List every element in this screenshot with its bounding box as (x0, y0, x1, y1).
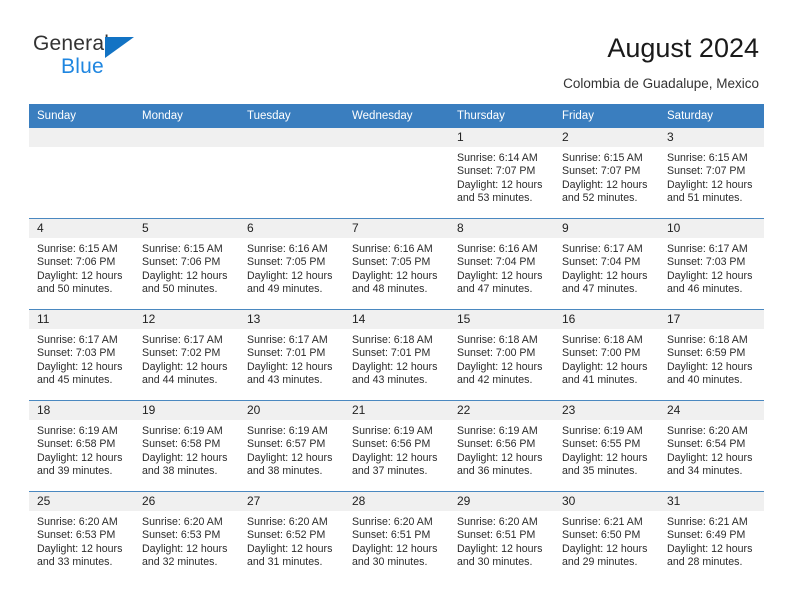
weekday-header-tuesday: Tuesday (239, 104, 344, 128)
calendar-day-cell[interactable]: 20Sunrise: 6:19 AMSunset: 6:57 PMDayligh… (239, 401, 344, 492)
sunset-text: Sunset: 6:59 PM (667, 347, 758, 360)
daylight-text: Daylight: 12 hours and 41 minutes. (562, 361, 653, 388)
sunrise-text: Sunrise: 6:18 AM (562, 334, 653, 347)
page-header: General Blue August 2024 Colombia de Gua… (0, 0, 792, 100)
day-details: Sunrise: 6:19 AMSunset: 6:56 PMDaylight:… (449, 420, 554, 479)
sunrise-text: Sunrise: 6:20 AM (457, 516, 548, 529)
day-details: Sunrise: 6:19 AMSunset: 6:58 PMDaylight:… (29, 420, 134, 479)
day-number: 17 (659, 310, 764, 329)
calendar-day-cell[interactable]: 23Sunrise: 6:19 AMSunset: 6:55 PMDayligh… (554, 401, 659, 492)
day-number: 3 (659, 128, 764, 147)
day-details: Sunrise: 6:17 AMSunset: 7:01 PMDaylight:… (239, 329, 344, 388)
day-number (134, 128, 239, 147)
sunrise-text: Sunrise: 6:16 AM (247, 243, 338, 256)
general-blue-logo[interactable]: General Blue (33, 32, 213, 84)
sunrise-text: Sunrise: 6:17 AM (247, 334, 338, 347)
day-details: Sunrise: 6:17 AMSunset: 7:03 PMDaylight:… (29, 329, 134, 388)
day-number: 1 (449, 128, 554, 147)
day-details: Sunrise: 6:18 AMSunset: 7:00 PMDaylight:… (449, 329, 554, 388)
day-number: 23 (554, 401, 659, 420)
weekday-header-thursday: Thursday (449, 104, 554, 128)
sunrise-text: Sunrise: 6:20 AM (352, 516, 443, 529)
calendar-day-cell[interactable]: 1Sunrise: 6:14 AMSunset: 7:07 PMDaylight… (449, 128, 554, 219)
weekday-header-sunday: Sunday (29, 104, 134, 128)
day-details: Sunrise: 6:17 AMSunset: 7:04 PMDaylight:… (554, 238, 659, 297)
daylight-text: Daylight: 12 hours and 43 minutes. (247, 361, 338, 388)
daylight-text: Daylight: 12 hours and 28 minutes. (667, 543, 758, 570)
calendar-day-cell[interactable]: 14Sunrise: 6:18 AMSunset: 7:01 PMDayligh… (344, 310, 449, 401)
day-number: 26 (134, 492, 239, 511)
sunrise-text: Sunrise: 6:16 AM (457, 243, 548, 256)
daylight-text: Daylight: 12 hours and 39 minutes. (37, 452, 128, 479)
daylight-text: Daylight: 12 hours and 52 minutes. (562, 179, 653, 206)
sunset-text: Sunset: 6:58 PM (142, 438, 233, 451)
sunset-text: Sunset: 7:04 PM (457, 256, 548, 269)
sunrise-text: Sunrise: 6:21 AM (667, 516, 758, 529)
calendar-day-cell[interactable]: 28Sunrise: 6:20 AMSunset: 6:51 PMDayligh… (344, 492, 449, 583)
day-details: Sunrise: 6:21 AMSunset: 6:49 PMDaylight:… (659, 511, 764, 570)
calendar-day-cell[interactable]: 7Sunrise: 6:16 AMSunset: 7:05 PMDaylight… (344, 219, 449, 310)
daylight-text: Daylight: 12 hours and 36 minutes. (457, 452, 548, 479)
sunrise-text: Sunrise: 6:20 AM (667, 425, 758, 438)
sunset-text: Sunset: 7:06 PM (37, 256, 128, 269)
day-details: Sunrise: 6:18 AMSunset: 7:00 PMDaylight:… (554, 329, 659, 388)
day-details: Sunrise: 6:17 AMSunset: 7:02 PMDaylight:… (134, 329, 239, 388)
calendar-day-cell[interactable]: 19Sunrise: 6:19 AMSunset: 6:58 PMDayligh… (134, 401, 239, 492)
day-number: 28 (344, 492, 449, 511)
sunset-text: Sunset: 7:04 PM (562, 256, 653, 269)
day-number: 8 (449, 219, 554, 238)
day-number: 19 (134, 401, 239, 420)
sunrise-text: Sunrise: 6:15 AM (562, 152, 653, 165)
weekday-header-saturday: Saturday (659, 104, 764, 128)
day-number: 7 (344, 219, 449, 238)
daylight-text: Daylight: 12 hours and 32 minutes. (142, 543, 233, 570)
sunset-text: Sunset: 6:51 PM (352, 529, 443, 542)
daylight-text: Daylight: 12 hours and 38 minutes. (247, 452, 338, 479)
sunset-text: Sunset: 7:00 PM (457, 347, 548, 360)
day-number: 27 (239, 492, 344, 511)
daylight-text: Daylight: 12 hours and 45 minutes. (37, 361, 128, 388)
daylight-text: Daylight: 12 hours and 33 minutes. (37, 543, 128, 570)
calendar-day-cell[interactable]: 31Sunrise: 6:21 AMSunset: 6:49 PMDayligh… (659, 492, 764, 583)
sunset-text: Sunset: 7:07 PM (667, 165, 758, 178)
day-number: 30 (554, 492, 659, 511)
calendar-day-cell[interactable]: 21Sunrise: 6:19 AMSunset: 6:56 PMDayligh… (344, 401, 449, 492)
daylight-text: Daylight: 12 hours and 50 minutes. (142, 270, 233, 297)
day-number: 21 (344, 401, 449, 420)
day-details: Sunrise: 6:19 AMSunset: 6:56 PMDaylight:… (344, 420, 449, 479)
calendar-day-cell-empty (239, 128, 344, 219)
sunset-text: Sunset: 6:49 PM (667, 529, 758, 542)
daylight-text: Daylight: 12 hours and 46 minutes. (667, 270, 758, 297)
day-number: 24 (659, 401, 764, 420)
calendar-day-cell[interactable]: 22Sunrise: 6:19 AMSunset: 6:56 PMDayligh… (449, 401, 554, 492)
sunset-text: Sunset: 7:01 PM (352, 347, 443, 360)
sunset-text: Sunset: 7:00 PM (562, 347, 653, 360)
day-details: Sunrise: 6:15 AMSunset: 7:07 PMDaylight:… (554, 147, 659, 206)
weekday-header-monday: Monday (134, 104, 239, 128)
sunrise-text: Sunrise: 6:15 AM (37, 243, 128, 256)
daylight-text: Daylight: 12 hours and 44 minutes. (142, 361, 233, 388)
day-number: 9 (554, 219, 659, 238)
calendar-day-cell[interactable]: 11Sunrise: 6:17 AMSunset: 7:03 PMDayligh… (29, 310, 134, 401)
daylight-text: Daylight: 12 hours and 29 minutes. (562, 543, 653, 570)
day-number: 12 (134, 310, 239, 329)
daylight-text: Daylight: 12 hours and 31 minutes. (247, 543, 338, 570)
calendar-day-cell[interactable]: 26Sunrise: 6:20 AMSunset: 6:53 PMDayligh… (134, 492, 239, 583)
calendar-day-cell[interactable]: 30Sunrise: 6:21 AMSunset: 6:50 PMDayligh… (554, 492, 659, 583)
weekday-header-wednesday: Wednesday (344, 104, 449, 128)
calendar-week-row: 18Sunrise: 6:19 AMSunset: 6:58 PMDayligh… (29, 401, 764, 492)
day-number (29, 128, 134, 147)
sunrise-text: Sunrise: 6:20 AM (142, 516, 233, 529)
day-details: Sunrise: 6:20 AMSunset: 6:51 PMDaylight:… (344, 511, 449, 570)
day-details: Sunrise: 6:18 AMSunset: 6:59 PMDaylight:… (659, 329, 764, 388)
day-number (239, 128, 344, 147)
sunset-text: Sunset: 7:03 PM (667, 256, 758, 269)
calendar-day-cell[interactable]: 10Sunrise: 6:17 AMSunset: 7:03 PMDayligh… (659, 219, 764, 310)
calendar-day-cell[interactable]: 4Sunrise: 6:15 AMSunset: 7:06 PMDaylight… (29, 219, 134, 310)
calendar-day-cell[interactable]: 16Sunrise: 6:18 AMSunset: 7:00 PMDayligh… (554, 310, 659, 401)
day-details: Sunrise: 6:18 AMSunset: 7:01 PMDaylight:… (344, 329, 449, 388)
calendar-day-cell[interactable]: 27Sunrise: 6:20 AMSunset: 6:52 PMDayligh… (239, 492, 344, 583)
sunset-text: Sunset: 6:51 PM (457, 529, 548, 542)
sunrise-text: Sunrise: 6:18 AM (352, 334, 443, 347)
calendar-day-cell[interactable]: 12Sunrise: 6:17 AMSunset: 7:02 PMDayligh… (134, 310, 239, 401)
day-number: 20 (239, 401, 344, 420)
day-number: 2 (554, 128, 659, 147)
day-number: 11 (29, 310, 134, 329)
day-number: 29 (449, 492, 554, 511)
sunset-text: Sunset: 6:56 PM (457, 438, 548, 451)
sunset-text: Sunset: 6:53 PM (37, 529, 128, 542)
calendar-body: 1Sunrise: 6:14 AMSunset: 7:07 PMDaylight… (29, 128, 764, 582)
logo-text-blue: Blue (61, 55, 104, 79)
daylight-text: Daylight: 12 hours and 48 minutes. (352, 270, 443, 297)
daylight-text: Daylight: 12 hours and 49 minutes. (247, 270, 338, 297)
sunset-text: Sunset: 7:06 PM (142, 256, 233, 269)
sunrise-text: Sunrise: 6:15 AM (142, 243, 233, 256)
sunrise-text: Sunrise: 6:14 AM (457, 152, 548, 165)
daylight-text: Daylight: 12 hours and 30 minutes. (352, 543, 443, 570)
day-details: Sunrise: 6:20 AMSunset: 6:53 PMDaylight:… (29, 511, 134, 570)
calendar-header-row: Sunday Monday Tuesday Wednesday Thursday… (29, 104, 764, 128)
day-number (344, 128, 449, 147)
day-details: Sunrise: 6:16 AMSunset: 7:05 PMDaylight:… (344, 238, 449, 297)
calendar-day-cell[interactable]: 5Sunrise: 6:15 AMSunset: 7:06 PMDaylight… (134, 219, 239, 310)
calendar-page: General Blue August 2024 Colombia de Gua… (0, 0, 792, 612)
sunset-text: Sunset: 6:55 PM (562, 438, 653, 451)
sunset-text: Sunset: 6:57 PM (247, 438, 338, 451)
day-details: Sunrise: 6:16 AMSunset: 7:04 PMDaylight:… (449, 238, 554, 297)
daylight-text: Daylight: 12 hours and 47 minutes. (457, 270, 548, 297)
daylight-text: Daylight: 12 hours and 38 minutes. (142, 452, 233, 479)
calendar-day-cell[interactable]: 9Sunrise: 6:17 AMSunset: 7:04 PMDaylight… (554, 219, 659, 310)
calendar-day-cell[interactable]: 29Sunrise: 6:20 AMSunset: 6:51 PMDayligh… (449, 492, 554, 583)
sunrise-text: Sunrise: 6:17 AM (667, 243, 758, 256)
sunset-text: Sunset: 6:54 PM (667, 438, 758, 451)
sunrise-text: Sunrise: 6:19 AM (352, 425, 443, 438)
logo-text-general: General (33, 32, 109, 56)
sunrise-text: Sunrise: 6:19 AM (562, 425, 653, 438)
sunrise-text: Sunrise: 6:21 AM (562, 516, 653, 529)
calendar-day-cell[interactable]: 2Sunrise: 6:15 AMSunset: 7:07 PMDaylight… (554, 128, 659, 219)
daylight-text: Daylight: 12 hours and 40 minutes. (667, 361, 758, 388)
weekday-header-friday: Friday (554, 104, 659, 128)
day-details: Sunrise: 6:19 AMSunset: 6:57 PMDaylight:… (239, 420, 344, 479)
day-details: Sunrise: 6:15 AMSunset: 7:06 PMDaylight:… (29, 238, 134, 297)
day-details: Sunrise: 6:20 AMSunset: 6:52 PMDaylight:… (239, 511, 344, 570)
daylight-text: Daylight: 12 hours and 53 minutes. (457, 179, 548, 206)
sunrise-text: Sunrise: 6:20 AM (247, 516, 338, 529)
day-number: 15 (449, 310, 554, 329)
page-title: August 2024 (607, 32, 759, 64)
day-details: Sunrise: 6:20 AMSunset: 6:51 PMDaylight:… (449, 511, 554, 570)
day-number: 10 (659, 219, 764, 238)
day-number: 4 (29, 219, 134, 238)
day-details: Sunrise: 6:20 AMSunset: 6:54 PMDaylight:… (659, 420, 764, 479)
sunset-text: Sunset: 6:53 PM (142, 529, 233, 542)
day-number: 31 (659, 492, 764, 511)
daylight-text: Daylight: 12 hours and 51 minutes. (667, 179, 758, 206)
day-number: 16 (554, 310, 659, 329)
calendar-day-cell[interactable]: 25Sunrise: 6:20 AMSunset: 6:53 PMDayligh… (29, 492, 134, 583)
sunset-text: Sunset: 6:56 PM (352, 438, 443, 451)
day-details: Sunrise: 6:15 AMSunset: 7:07 PMDaylight:… (659, 147, 764, 206)
sunrise-text: Sunrise: 6:18 AM (667, 334, 758, 347)
sunrise-text: Sunrise: 6:17 AM (562, 243, 653, 256)
sunset-text: Sunset: 7:02 PM (142, 347, 233, 360)
sunset-text: Sunset: 7:03 PM (37, 347, 128, 360)
sunrise-text: Sunrise: 6:18 AM (457, 334, 548, 347)
calendar-week-row: 4Sunrise: 6:15 AMSunset: 7:06 PMDaylight… (29, 219, 764, 310)
day-details: Sunrise: 6:19 AMSunset: 6:58 PMDaylight:… (134, 420, 239, 479)
sunset-text: Sunset: 7:05 PM (352, 256, 443, 269)
day-number: 13 (239, 310, 344, 329)
day-details: Sunrise: 6:19 AMSunset: 6:55 PMDaylight:… (554, 420, 659, 479)
calendar-day-cell[interactable]: 18Sunrise: 6:19 AMSunset: 6:58 PMDayligh… (29, 401, 134, 492)
sunrise-text: Sunrise: 6:19 AM (247, 425, 338, 438)
daylight-text: Daylight: 12 hours and 30 minutes. (457, 543, 548, 570)
daylight-text: Daylight: 12 hours and 42 minutes. (457, 361, 548, 388)
calendar-day-cell[interactable]: 17Sunrise: 6:18 AMSunset: 6:59 PMDayligh… (659, 310, 764, 401)
calendar-week-row: 25Sunrise: 6:20 AMSunset: 6:53 PMDayligh… (29, 492, 764, 583)
sunrise-text: Sunrise: 6:16 AM (352, 243, 443, 256)
sunrise-text: Sunrise: 6:17 AM (142, 334, 233, 347)
sunrise-text: Sunrise: 6:20 AM (37, 516, 128, 529)
sunrise-text: Sunrise: 6:19 AM (457, 425, 548, 438)
day-number: 22 (449, 401, 554, 420)
daylight-text: Daylight: 12 hours and 50 minutes. (37, 270, 128, 297)
day-details: Sunrise: 6:20 AMSunset: 6:53 PMDaylight:… (134, 511, 239, 570)
page-subtitle-location: Colombia de Guadalupe, Mexico (563, 76, 759, 92)
sunrise-text: Sunrise: 6:15 AM (667, 152, 758, 165)
calendar-day-cell[interactable]: 6Sunrise: 6:16 AMSunset: 7:05 PMDaylight… (239, 219, 344, 310)
sunrise-text: Sunrise: 6:17 AM (37, 334, 128, 347)
calendar-week-row: 1Sunrise: 6:14 AMSunset: 7:07 PMDaylight… (29, 128, 764, 219)
calendar-day-cell[interactable]: 15Sunrise: 6:18 AMSunset: 7:00 PMDayligh… (449, 310, 554, 401)
day-number: 25 (29, 492, 134, 511)
day-number: 5 (134, 219, 239, 238)
day-details: Sunrise: 6:21 AMSunset: 6:50 PMDaylight:… (554, 511, 659, 570)
sunrise-sunset-calendar-table: Sunday Monday Tuesday Wednesday Thursday… (29, 104, 764, 582)
day-details: Sunrise: 6:17 AMSunset: 7:03 PMDaylight:… (659, 238, 764, 297)
sunset-text: Sunset: 6:58 PM (37, 438, 128, 451)
calendar-day-cell[interactable]: 3Sunrise: 6:15 AMSunset: 7:07 PMDaylight… (659, 128, 764, 219)
day-details: Sunrise: 6:14 AMSunset: 7:07 PMDaylight:… (449, 147, 554, 206)
daylight-text: Daylight: 12 hours and 47 minutes. (562, 270, 653, 297)
daylight-text: Daylight: 12 hours and 43 minutes. (352, 361, 443, 388)
sunset-text: Sunset: 7:01 PM (247, 347, 338, 360)
daylight-text: Daylight: 12 hours and 34 minutes. (667, 452, 758, 479)
daylight-text: Daylight: 12 hours and 37 minutes. (352, 452, 443, 479)
day-details: Sunrise: 6:16 AMSunset: 7:05 PMDaylight:… (239, 238, 344, 297)
calendar-day-cell[interactable]: 24Sunrise: 6:20 AMSunset: 6:54 PMDayligh… (659, 401, 764, 492)
sunset-text: Sunset: 6:52 PM (247, 529, 338, 542)
calendar-day-cell-empty (344, 128, 449, 219)
sunset-text: Sunset: 7:05 PM (247, 256, 338, 269)
sunrise-text: Sunrise: 6:19 AM (37, 425, 128, 438)
calendar-day-cell-empty (134, 128, 239, 219)
day-number: 14 (344, 310, 449, 329)
calendar-day-cell[interactable]: 13Sunrise: 6:17 AMSunset: 7:01 PMDayligh… (239, 310, 344, 401)
logo-triangle-icon (105, 37, 134, 58)
sunset-text: Sunset: 7:07 PM (562, 165, 653, 178)
sunset-text: Sunset: 6:50 PM (562, 529, 653, 542)
day-number: 6 (239, 219, 344, 238)
sunrise-text: Sunrise: 6:19 AM (142, 425, 233, 438)
day-number: 18 (29, 401, 134, 420)
day-details: Sunrise: 6:15 AMSunset: 7:06 PMDaylight:… (134, 238, 239, 297)
sunset-text: Sunset: 7:07 PM (457, 165, 548, 178)
calendar-day-cell-empty (29, 128, 134, 219)
calendar-day-cell[interactable]: 8Sunrise: 6:16 AMSunset: 7:04 PMDaylight… (449, 219, 554, 310)
calendar-week-row: 11Sunrise: 6:17 AMSunset: 7:03 PMDayligh… (29, 310, 764, 401)
daylight-text: Daylight: 12 hours and 35 minutes. (562, 452, 653, 479)
